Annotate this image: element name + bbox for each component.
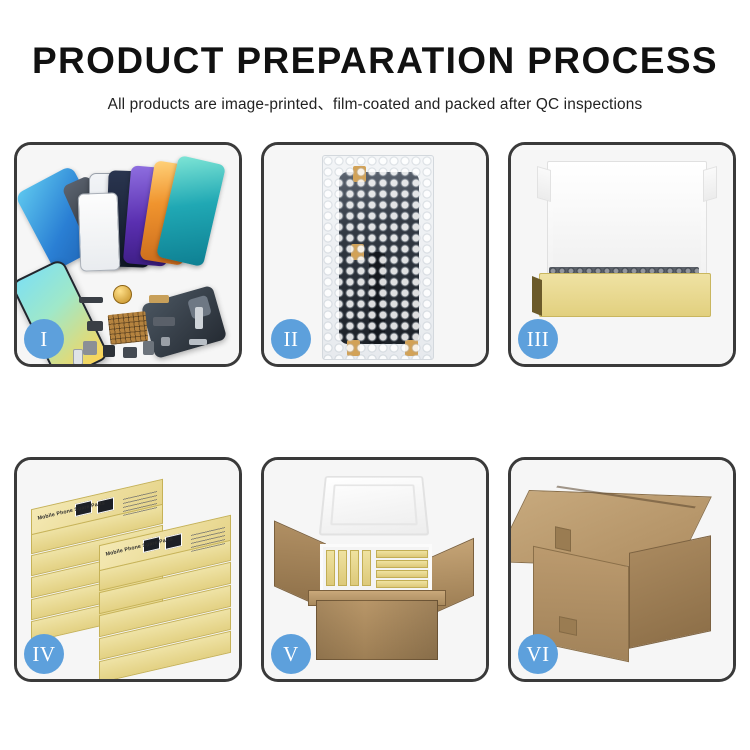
inner-box-icon	[376, 580, 428, 588]
process-step-panel-6[interactable]: VI	[508, 457, 736, 682]
spare-part-icon	[73, 349, 83, 365]
spare-part-icon	[153, 317, 175, 326]
spare-part-icon	[87, 321, 103, 331]
inner-box-icon	[326, 550, 335, 586]
process-step-panel-1[interactable]: I	[14, 142, 242, 367]
process-step-panel-2[interactable]: II	[261, 142, 489, 367]
inner-box-icon	[350, 550, 359, 586]
spare-part-icon	[103, 345, 115, 357]
foam-lid-icon	[319, 476, 430, 536]
screwdriver-icon	[195, 307, 203, 329]
inner-box-icon	[362, 550, 371, 586]
step-badge-6: VI	[518, 634, 558, 674]
spare-part-icon	[161, 337, 170, 346]
process-steps-grid: I II	[14, 142, 736, 682]
bubble-texture	[323, 156, 433, 359]
step-badge-5: V	[271, 634, 311, 674]
product-preparation-infographic: PRODUCT PREPARATION PROCESS All products…	[0, 0, 750, 750]
spare-part-icon	[79, 297, 103, 303]
carton-shading	[316, 600, 438, 660]
inner-box-icon	[376, 570, 428, 578]
carton-side-face-icon	[629, 535, 711, 648]
process-step-panel-4[interactable]: Mobile Phone Spare Parts Mobile Phone Sp…	[14, 457, 242, 682]
yellow-box-tray-icon	[539, 273, 711, 317]
step-badge-3: III	[518, 319, 558, 359]
step-badge-1: I	[24, 319, 64, 359]
header: PRODUCT PREPARATION PROCESS All products…	[0, 40, 750, 114]
spare-part-icon	[143, 341, 154, 355]
process-step-panel-3[interactable]: III	[508, 142, 736, 367]
carton-tape-icon	[555, 526, 571, 551]
spare-part-icon	[149, 295, 169, 303]
step-badge-4: IV	[24, 634, 64, 674]
page-title: PRODUCT PREPARATION PROCESS	[0, 40, 750, 81]
inner-box-icon	[376, 550, 428, 558]
chip-grid-icon	[108, 311, 149, 345]
spare-part-icon	[83, 341, 97, 355]
step-badge-2: II	[271, 319, 311, 359]
inner-box-icon	[338, 550, 347, 586]
inner-box-icon	[376, 560, 428, 568]
process-step-panel-5[interactable]: V	[261, 457, 489, 682]
spare-part-icon	[189, 339, 207, 345]
bubble-wrap-bag-icon	[322, 155, 434, 360]
page-subtitle: All products are image-printed、film-coat…	[0, 92, 750, 114]
spare-part-icon	[123, 347, 137, 358]
foam-sheet-icon	[553, 197, 701, 271]
tempered-glass-icon	[78, 192, 121, 271]
camera-module-icon	[113, 285, 132, 304]
